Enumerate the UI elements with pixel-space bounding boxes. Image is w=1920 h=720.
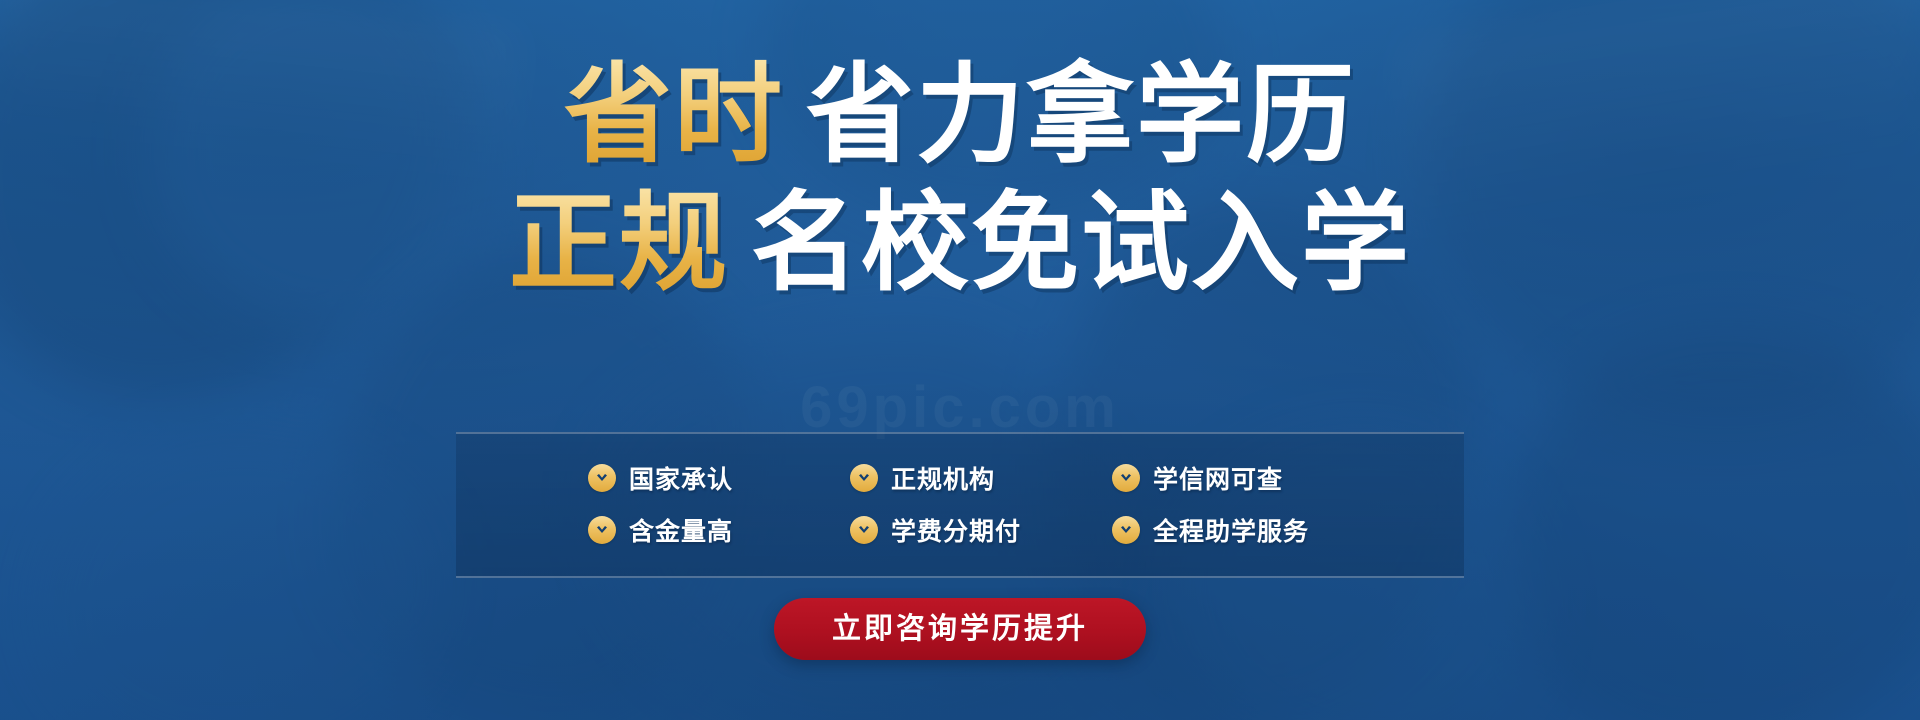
feature-item-legit-institution: 正规机构 — [850, 460, 1112, 496]
feature-label: 学信网可查 — [1153, 460, 1283, 496]
headline-line-2-gold: 正规 — [509, 181, 751, 306]
feature-panel: 国家承认 正规机构 学信网可查 含金量高 — [456, 432, 1464, 578]
headline-line-1-gold: 省时 — [564, 53, 806, 178]
feature-item-chsi-verifiable: 学信网可查 — [1112, 460, 1412, 496]
headline: 省时省力拿学历 正规名校免试入学 — [509, 62, 1411, 298]
feature-item-high-value: 含金量高 — [456, 512, 850, 548]
promo-banner: 69pic.com 省时省力拿学历 正规名校免试入学 国家承认 正规机构 — [0, 0, 1920, 720]
feature-row: 国家承认 正规机构 学信网可查 — [456, 452, 1464, 504]
check-circle-icon — [588, 516, 616, 544]
check-circle-icon — [850, 516, 878, 544]
headline-line-2-white: 名校免试入学 — [751, 181, 1411, 306]
feature-item-national-recognition: 国家承认 — [456, 460, 850, 496]
feature-label: 学费分期付 — [891, 512, 1021, 548]
check-circle-icon — [588, 464, 616, 492]
feature-row: 含金量高 学费分期付 全程助学服务 — [456, 504, 1464, 556]
headline-line-1: 省时省力拿学历 — [509, 62, 1411, 170]
headline-line-1-white: 省力拿学历 — [806, 53, 1356, 178]
headline-line-2: 正规名校免试入学 — [509, 190, 1411, 298]
feature-item-full-study-support: 全程助学服务 — [1112, 512, 1412, 548]
check-circle-icon — [1112, 464, 1140, 492]
feature-label: 国家承认 — [629, 460, 733, 496]
feature-label: 正规机构 — [891, 460, 995, 496]
cta-container: 立即咨询学历提升 — [774, 598, 1146, 660]
check-circle-icon — [850, 464, 878, 492]
check-circle-icon — [1112, 516, 1140, 544]
feature-label: 全程助学服务 — [1153, 512, 1309, 548]
consult-now-button[interactable]: 立即咨询学历提升 — [774, 598, 1146, 660]
feature-item-tuition-installments: 学费分期付 — [850, 512, 1112, 548]
feature-label: 含金量高 — [629, 512, 733, 548]
